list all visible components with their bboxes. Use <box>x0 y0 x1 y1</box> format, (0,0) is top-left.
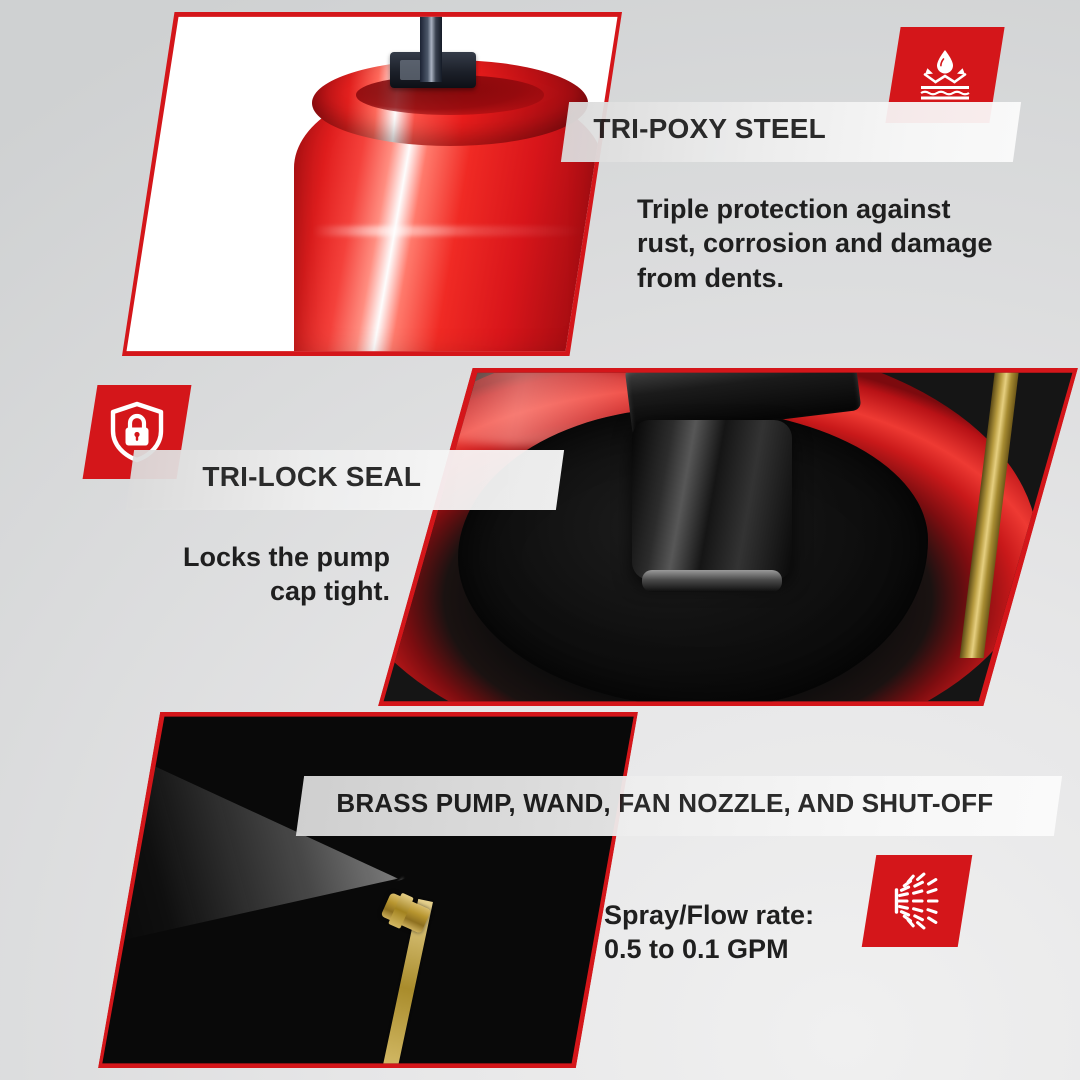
feature-body-1: Triple protection against rust, corrosio… <box>637 192 1037 295</box>
feature-title-banner-2: TRI-LOCK SEAL <box>126 450 564 510</box>
feature-body-2: Locks the pump cap tight. <box>140 540 390 609</box>
product-feature-infographic: TRI-POXY STEEL Triple protection against… <box>0 0 1080 1080</box>
pump-stem <box>420 12 442 82</box>
feature-title-2: TRI-LOCK SEAL <box>202 461 421 493</box>
feature-title-1: TRI-POXY STEEL <box>593 113 826 145</box>
feature-image-brass-pump-wand <box>98 712 638 1068</box>
water-repellent-coating-icon <box>913 46 977 104</box>
feature-title-banner-1: TRI-POXY STEEL <box>561 102 1021 162</box>
feature-title-3: BRASS PUMP, WAND, FAN NOZZLE, AND SHUT-O… <box>336 788 993 819</box>
feature-image-tri-lock-seal <box>378 368 1078 706</box>
feature-photo-1 <box>122 12 622 356</box>
feature-photo-2 <box>378 368 1078 706</box>
feature-photo-3 <box>98 712 638 1068</box>
pump-cap <box>632 420 792 580</box>
feature-body-3: Spray/Flow rate: 0.5 to 0.1 GPM <box>604 898 934 967</box>
feature-title-banner-3: BRASS PUMP, WAND, FAN NOZZLE, AND SHUT-O… <box>296 776 1062 836</box>
feature-image-tri-poxy-steel <box>122 12 622 356</box>
